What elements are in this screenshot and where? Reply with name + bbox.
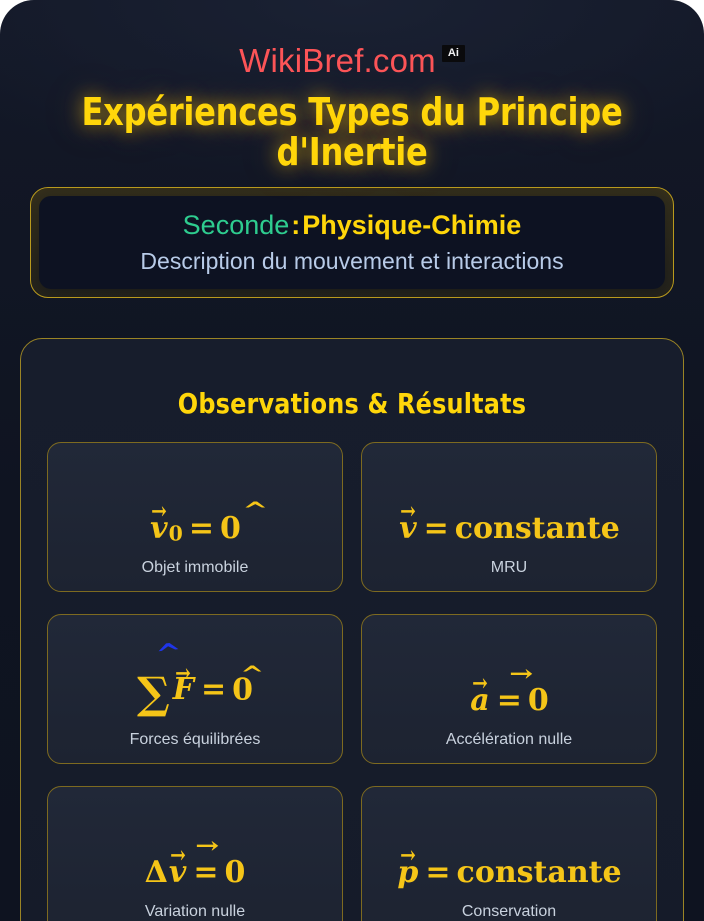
card-caption: Variation nulle <box>145 902 245 921</box>
vector-v: v <box>168 858 187 888</box>
results-panel: Observations & Résultats v0=0 ^ Objet im… <box>20 338 684 921</box>
formula-a-zero: a=0 <box>469 686 548 716</box>
subject-matter: Physique-Chimie <box>302 210 521 240</box>
zero-value: 0 <box>224 855 245 890</box>
vector-p: p <box>396 858 419 888</box>
equals-sign: = <box>187 855 224 890</box>
page-root: WikiBref.comAi Expériences Types du Prin… <box>0 0 704 921</box>
constante-word: constante <box>457 855 622 890</box>
equals-sign: = <box>491 683 528 718</box>
card-caption: Forces équilibrées <box>130 730 261 749</box>
card-caption: Conservation <box>462 902 556 921</box>
card-caption: MRU <box>491 558 527 577</box>
zero-value: 0 <box>232 672 253 707</box>
formula-v-constante: v=constante <box>398 514 620 544</box>
equals-sign: = <box>418 511 455 546</box>
page-title: Expériences Types du Principe d'Inertie <box>21 93 683 173</box>
delta-symbol: Δ <box>145 855 168 890</box>
formula-delta-v-zero: Δv=0 <box>145 858 246 888</box>
result-card-forces-equilibrees: ∑F=0 ^ ^ Forces équilibrées <box>47 614 343 764</box>
card-caption: Accélération nulle <box>446 730 572 749</box>
vector-a: a <box>469 686 490 716</box>
sigma-icon: ∑ <box>137 668 172 719</box>
vector-v: v <box>149 514 168 544</box>
formula-p-constante: p=constante <box>396 858 621 888</box>
zero-value: 0 <box>528 683 549 718</box>
results-title: Observations & Résultats <box>62 387 642 420</box>
formula-sum-f-zero: ∑F=0 <box>137 672 253 716</box>
results-grid: v0=0 ^ Objet immobile v=constante MRU ∑F… <box>47 442 657 921</box>
subject-line: Seconde:Physique-Chimie <box>49 210 655 241</box>
vector-v: v <box>398 514 417 544</box>
card-caption: Objet immobile <box>142 558 249 577</box>
brand-name: WikiBref.com <box>239 42 436 79</box>
equals-sign: = <box>195 672 232 707</box>
result-card-objet-immobile: v0=0 ^ Objet immobile <box>47 442 343 592</box>
result-card-mru: v=constante MRU <box>361 442 657 592</box>
subject-inner: Seconde:Physique-Chimie Description du m… <box>39 196 665 289</box>
equals-sign: = <box>183 511 220 546</box>
vector-f: F <box>172 675 195 705</box>
brand-header: WikiBref.comAi <box>0 0 704 77</box>
subject-level: Seconde <box>183 210 290 240</box>
equals-sign: = <box>419 855 456 890</box>
result-card-acceleration-nulle: a=0 → Accélération nulle <box>361 614 657 764</box>
subscript-0: 0 <box>169 521 183 545</box>
result-card-conservation: p=constante Conservation <box>361 786 657 921</box>
subject-separator: : <box>289 210 302 240</box>
subject-description: Description du mouvement et interactions <box>49 247 655 283</box>
constante-word: constante <box>455 511 620 546</box>
ai-badge: Ai <box>442 45 465 62</box>
vector-arrow-artifact-icon: ^ <box>242 498 268 524</box>
zero-value: 0 <box>220 511 241 546</box>
formula-v0-zero: v0=0 <box>149 514 241 544</box>
subject-banner: Seconde:Physique-Chimie Description du m… <box>30 187 674 298</box>
result-card-variation-nulle: Δv=0 → Variation nulle <box>47 786 343 921</box>
